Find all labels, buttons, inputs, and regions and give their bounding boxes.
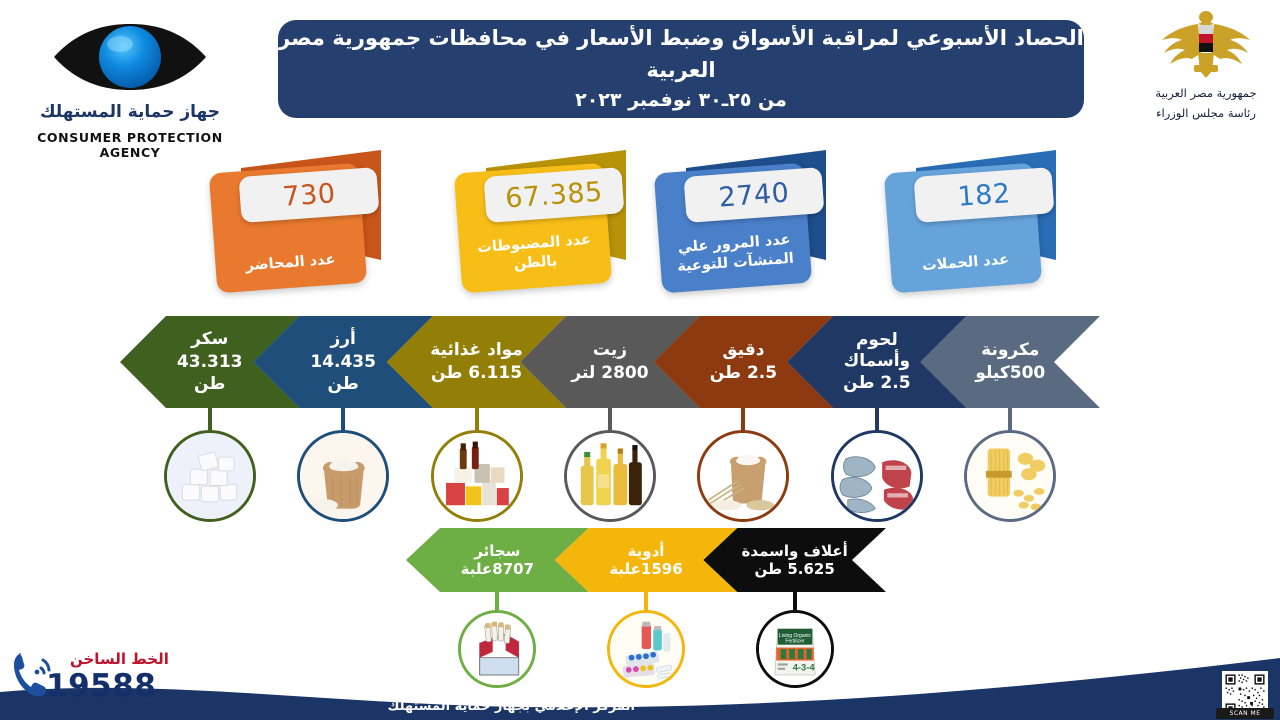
commodity-quantity: 1596علبة [609, 560, 682, 579]
commodity-chevron: أعلاف واسمدة5.625 طن [703, 528, 886, 592]
commodity-image-flour [697, 430, 789, 522]
chevron-connector-stem [793, 590, 797, 612]
consumer-protection-agency-logo: جهاز حماية المستهلك CONSUMER PROTECTION … [14, 22, 246, 134]
agency-name-arabic: جهاز حماية المستهلك [14, 102, 246, 122]
eagle-emblem-icon [1158, 8, 1254, 82]
commodity-image-pasta [964, 430, 1056, 522]
commodity-quantity: 2800 لتر [571, 362, 648, 384]
commodity-image-oil [564, 430, 656, 522]
commodity-name: أرز [330, 329, 355, 350]
gov-logo-line-1: جمهورية مصر العربية [1132, 86, 1280, 100]
commodity-chevron-row-secondary: سجائر8707علبةأدوية1596علبةأعلاف واسمدة5.… [0, 528, 1280, 592]
kpi-label: عدد المحاضر [215, 249, 366, 279]
eye-icon [50, 22, 210, 92]
commodity-name: أدوية [628, 542, 665, 560]
commodity-name: مواد غذائية [430, 340, 523, 361]
title-line-2: من ٢٥ـ٣٠ نوفمبر ٢٠٢٣ [575, 86, 787, 115]
infographic-canvas: جهاز حماية المستهلك CONSUMER PROTECTION … [0, 0, 1280, 720]
commodity-image-sugar [164, 430, 256, 522]
commodity-chevron-row-primary: سكر43.313 طنأرز14.435 طنمواد غذائية6.115… [0, 316, 1280, 408]
title-line-1: الحصاد الأسبوعي لمراقبة الأسواق وضبط الأ… [278, 23, 1084, 86]
commodity-quantity: 500كيلو [975, 362, 1045, 384]
commodity-name: أعلاف واسمدة [742, 542, 848, 560]
commodity-name: سكر [191, 329, 228, 350]
commodity-image-meatfish [831, 430, 923, 522]
commodity-quantity: 2.5 طن [843, 372, 910, 394]
commodity-name: زيت [593, 340, 627, 361]
hotline-block: الخط الساخن 19588 [8, 646, 208, 714]
hotline-label: الخط الساخن [70, 650, 169, 668]
kpi-value: 730 [281, 178, 336, 213]
commodity-image-rice [297, 430, 389, 522]
kpi-label: عدد الحملات [890, 249, 1041, 279]
kpi-banner: عدد المضبوطاتبالطن67.385 [450, 150, 682, 305]
qr-caption: SCAN ME [1216, 708, 1274, 719]
commodity-name: لحوم وأسماك [829, 330, 926, 373]
chevron-connector-stem [644, 590, 648, 612]
commodity-name: مكرونة [981, 340, 1039, 361]
commodity-name: دقيق [722, 340, 764, 361]
kpi-value: 182 [956, 178, 1011, 213]
kpi-banner: عدد المحاضر730 [205, 150, 437, 305]
kpi-banner: عدد الحملات182 [880, 150, 1112, 305]
commodity-quantity: 6.115 طن [431, 362, 522, 384]
chevron-connector-stem [495, 590, 499, 612]
kpi-banner: عدد المرور عليالمنشآت للتوعية2740 [650, 150, 882, 305]
footer-credit: المركز الإعلامي بجهاز حماية المستهلك [215, 699, 635, 714]
commodity-quantity: 5.625 طن [755, 560, 835, 579]
kpi-label: عدد المضبوطاتبالطن [459, 229, 611, 279]
commodity-quantity: 2.5 طن [710, 362, 777, 384]
commodity-quantity: 14.435 طن [295, 351, 392, 395]
commodity-quantity: 8707علبة [461, 560, 534, 579]
hotline-number: 19588 [46, 668, 156, 704]
commodity-name: سجائر [474, 542, 520, 560]
kpi-value: 2740 [718, 177, 791, 213]
svg-text:Fertilizer: Fertilizer [785, 639, 805, 645]
report-title-banner: الحصاد الأسبوعي لمراقبة الأسواق وضبط الأ… [278, 20, 1084, 118]
kpi-value: 67.385 [504, 176, 603, 214]
commodity-quantity: 43.313 طن [161, 351, 258, 395]
commodity-image-groceries [431, 430, 523, 522]
gov-logo-line-2: رئاسة مجلس الوزراء [1132, 106, 1280, 120]
kpi-label: عدد المرور عليالمنشآت للتوعية [659, 229, 811, 279]
government-emblem-logo: جمهورية مصر العربية رئاسة مجلس الوزراء [1132, 6, 1280, 130]
